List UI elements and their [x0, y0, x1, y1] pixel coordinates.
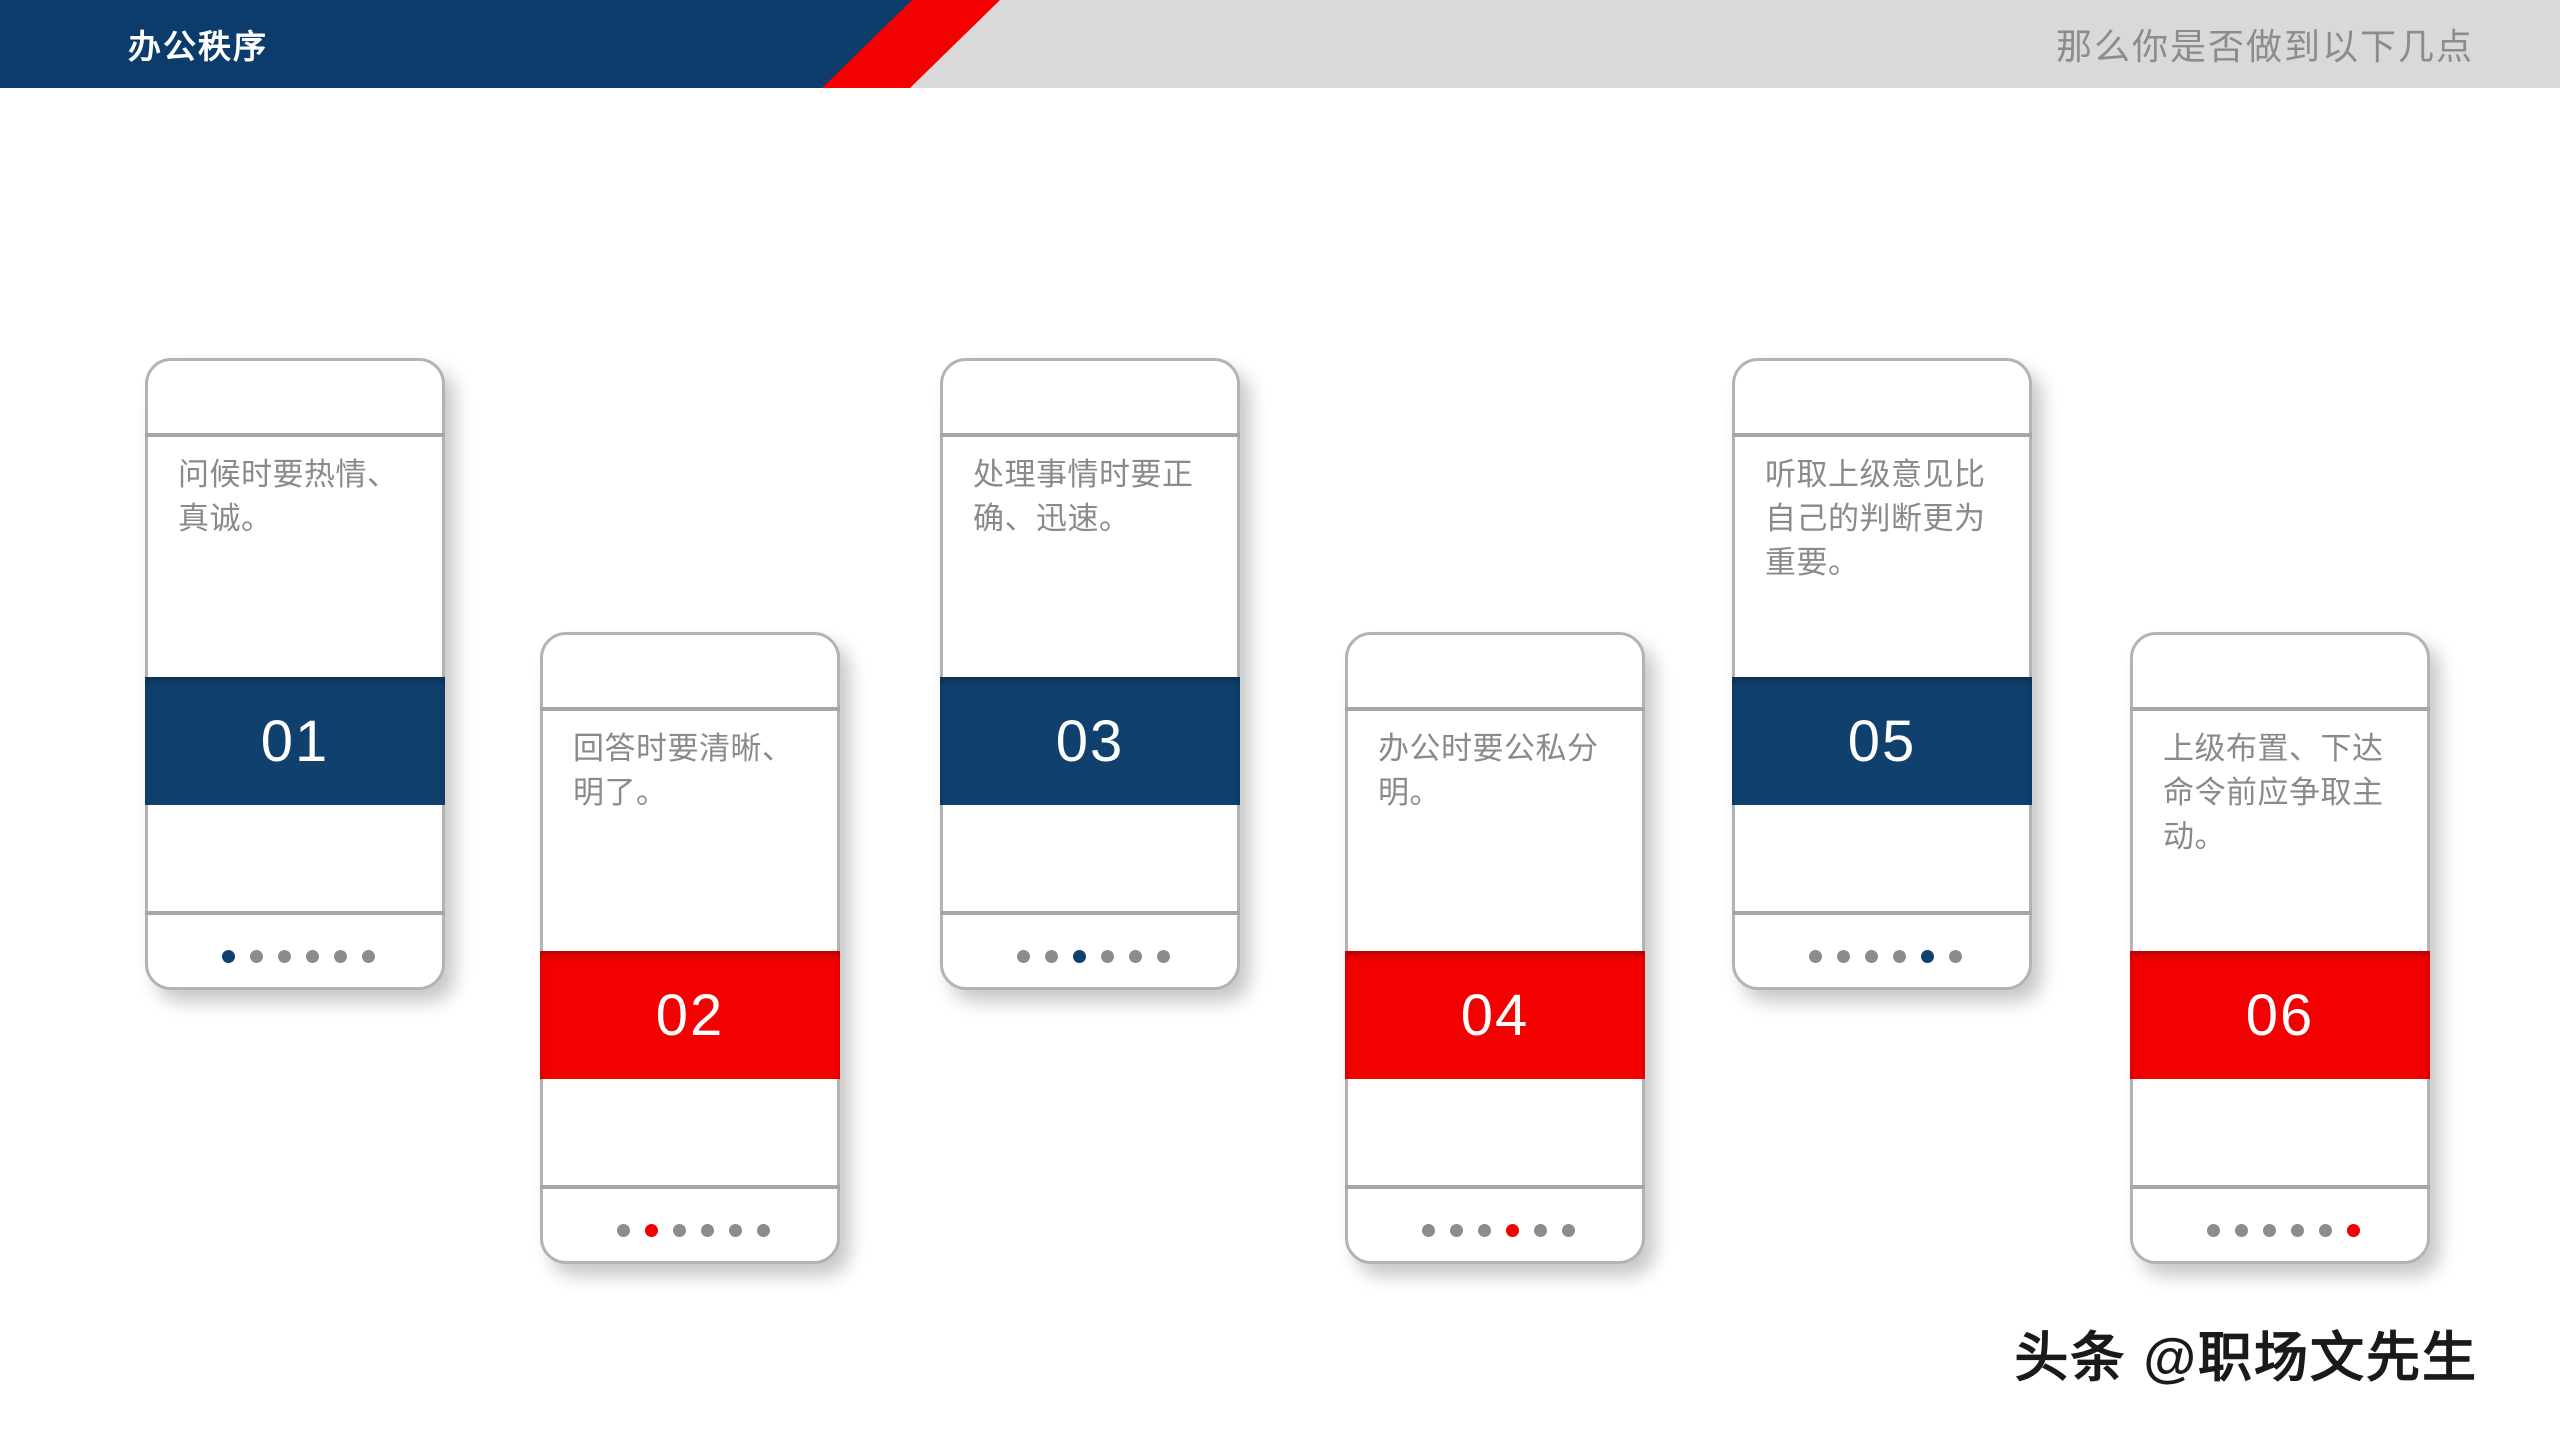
card-dot-indicator[interactable]	[2133, 1224, 2433, 1237]
card-bottom-divider	[540, 1185, 840, 1189]
dot-4[interactable]	[1101, 950, 1114, 963]
card-bottom-divider	[2130, 1185, 2430, 1189]
card-text: 处理事情时要正确、迅速。	[973, 453, 1215, 541]
dot-3[interactable]	[673, 1224, 686, 1237]
card-dot-indicator[interactable]	[943, 950, 1243, 963]
dot-4[interactable]	[1506, 1224, 1519, 1237]
slide: 办公秩序 那么你是否做到以下几点 问候时要热情、真诚。 01 回答时要清晰、明了…	[0, 0, 2560, 1440]
dot-2[interactable]	[645, 1224, 658, 1237]
dot-4[interactable]	[306, 950, 319, 963]
card-text: 上级布置、下达命令前应争取主动。	[2163, 727, 2405, 859]
dot-3[interactable]	[1073, 950, 1086, 963]
dot-2[interactable]	[1837, 950, 1850, 963]
card-dot-indicator[interactable]	[148, 950, 448, 963]
dot-1[interactable]	[1422, 1224, 1435, 1237]
card-dot-indicator[interactable]	[1348, 1224, 1648, 1237]
dot-3[interactable]	[278, 950, 291, 963]
dot-3[interactable]	[2263, 1224, 2276, 1237]
dot-2[interactable]	[2235, 1224, 2248, 1237]
phone-card-05[interactable]: 听取上级意见比自己的判断更为重要。 05	[1732, 358, 2032, 990]
card-number-band: 03	[940, 677, 1240, 805]
watermark: 头条 @职场文先生	[2014, 1313, 2478, 1392]
phone-card-02[interactable]: 回答时要清晰、明了。 02	[540, 632, 840, 1264]
dot-2[interactable]	[250, 950, 263, 963]
card-top-divider	[540, 707, 840, 711]
dot-5[interactable]	[1534, 1224, 1547, 1237]
dot-1[interactable]	[1809, 950, 1822, 963]
phone-card-04[interactable]: 办公时要公私分明。 04	[1345, 632, 1645, 1264]
dot-1[interactable]	[617, 1224, 630, 1237]
phone-card-06[interactable]: 上级布置、下达命令前应争取主动。 06	[2130, 632, 2430, 1264]
dot-6[interactable]	[362, 950, 375, 963]
dot-2[interactable]	[1450, 1224, 1463, 1237]
card-dot-indicator[interactable]	[1735, 950, 2035, 963]
dot-4[interactable]	[1893, 950, 1906, 963]
dot-5[interactable]	[729, 1224, 742, 1237]
card-top-divider	[1345, 707, 1645, 711]
dot-5[interactable]	[334, 950, 347, 963]
dot-4[interactable]	[2291, 1224, 2304, 1237]
phone-card-01[interactable]: 问候时要热情、真诚。 01	[145, 358, 445, 990]
card-top-divider	[1732, 433, 2032, 437]
dot-6[interactable]	[757, 1224, 770, 1237]
dot-3[interactable]	[1865, 950, 1878, 963]
card-text: 听取上级意见比自己的判断更为重要。	[1765, 453, 2007, 585]
dot-1[interactable]	[1017, 950, 1030, 963]
dot-1[interactable]	[2207, 1224, 2220, 1237]
card-text: 回答时要清晰、明了。	[573, 727, 815, 815]
card-dot-indicator[interactable]	[543, 1224, 843, 1237]
card-text: 办公时要公私分明。	[1378, 727, 1620, 815]
dot-6[interactable]	[1949, 950, 1962, 963]
dot-6[interactable]	[1157, 950, 1170, 963]
dot-4[interactable]	[701, 1224, 714, 1237]
card-top-divider	[145, 433, 445, 437]
card-top-divider	[940, 433, 1240, 437]
card-bottom-divider	[145, 911, 445, 915]
dot-6[interactable]	[1562, 1224, 1575, 1237]
dot-3[interactable]	[1478, 1224, 1491, 1237]
dot-2[interactable]	[1045, 950, 1058, 963]
card-bottom-divider	[1732, 911, 2032, 915]
card-grid: 问候时要热情、真诚。 01 回答时要清晰、明了。 02	[0, 0, 2560, 1440]
card-bottom-divider	[1345, 1185, 1645, 1189]
card-number-band: 01	[145, 677, 445, 805]
dot-5[interactable]	[1129, 950, 1142, 963]
card-text: 问候时要热情、真诚。	[178, 453, 420, 541]
card-number-band: 04	[1345, 951, 1645, 1079]
phone-card-03[interactable]: 处理事情时要正确、迅速。 03	[940, 358, 1240, 990]
card-number-band: 05	[1732, 677, 2032, 805]
dot-6[interactable]	[2347, 1224, 2360, 1237]
card-number-band: 02	[540, 951, 840, 1079]
dot-5[interactable]	[1921, 950, 1934, 963]
card-number-band: 06	[2130, 951, 2430, 1079]
dot-5[interactable]	[2319, 1224, 2332, 1237]
dot-1[interactable]	[222, 950, 235, 963]
card-top-divider	[2130, 707, 2430, 711]
card-bottom-divider	[940, 911, 1240, 915]
